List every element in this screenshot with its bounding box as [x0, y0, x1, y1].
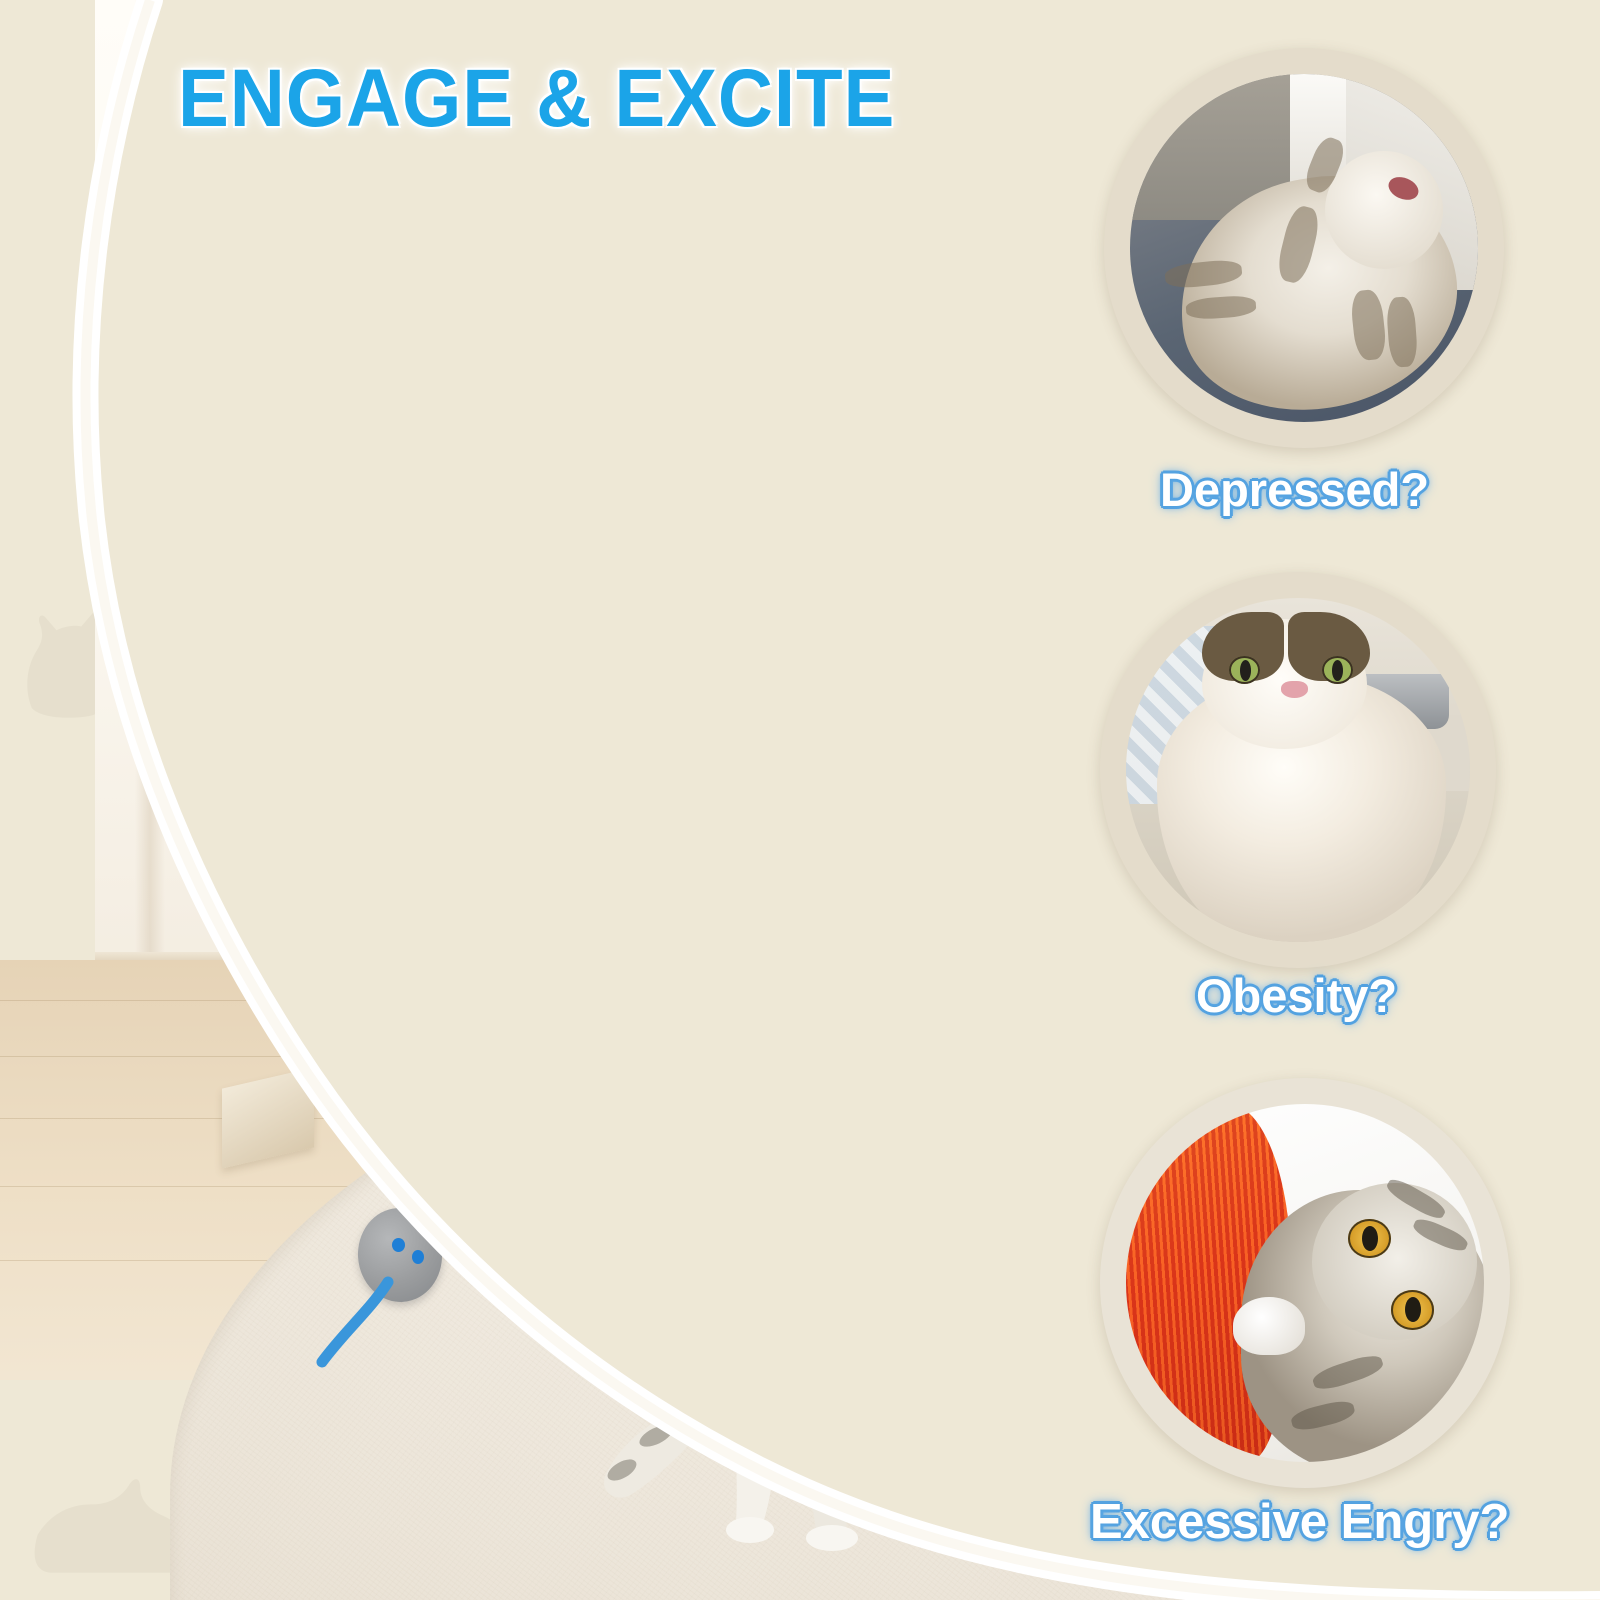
- spring-hook-top: [428, 330, 450, 360]
- inset-angry-photo: [1126, 1104, 1484, 1462]
- main-cat-photo: [560, 858, 1120, 1558]
- mouse-eye: [392, 1238, 405, 1252]
- inset-caption-depressed: Depressed?: [1160, 462, 1429, 517]
- mouse-eye: [430, 794, 443, 809]
- mouse-tail: [434, 844, 524, 954]
- inset-angry[interactable]: [1100, 1078, 1510, 1488]
- inset-caption-obesity: Obesity?: [1196, 968, 1397, 1023]
- mouse-toy-lower: [348, 1208, 458, 1368]
- right-wall-slice: [1560, 0, 1600, 660]
- spring-clip: [434, 540, 462, 566]
- mouse-toy-upper: [390, 758, 500, 958]
- page-title: ENGAGE & EXCITE: [178, 52, 895, 146]
- mouse-eye: [412, 806, 424, 821]
- mouse-tail: [314, 1276, 434, 1386]
- cat-head: [664, 984, 852, 1163]
- spring-hook-bottom: [430, 512, 452, 542]
- inset-obesity[interactable]: [1100, 572, 1496, 968]
- inset-depressed[interactable]: [1104, 48, 1504, 448]
- spool-hub: [503, 412, 529, 438]
- poster-stage: ENGAGE & EXCITE Depressed? Obesity? Exce…: [0, 0, 1600, 1600]
- cat-ear-left: [703, 936, 746, 1006]
- inset-obesity-photo: [1126, 598, 1470, 942]
- inset-caption-angry: Excessive Engry?: [1090, 1494, 1509, 1550]
- door-jamb-edge: [858, 0, 868, 1000]
- cat-front-leg: [732, 1398, 776, 1537]
- cat-lifted-paw: [604, 1414, 696, 1498]
- mouse-eye: [412, 1250, 424, 1264]
- cat-front-leg: [796, 1410, 847, 1544]
- inset-depressed-photo: [1130, 74, 1478, 422]
